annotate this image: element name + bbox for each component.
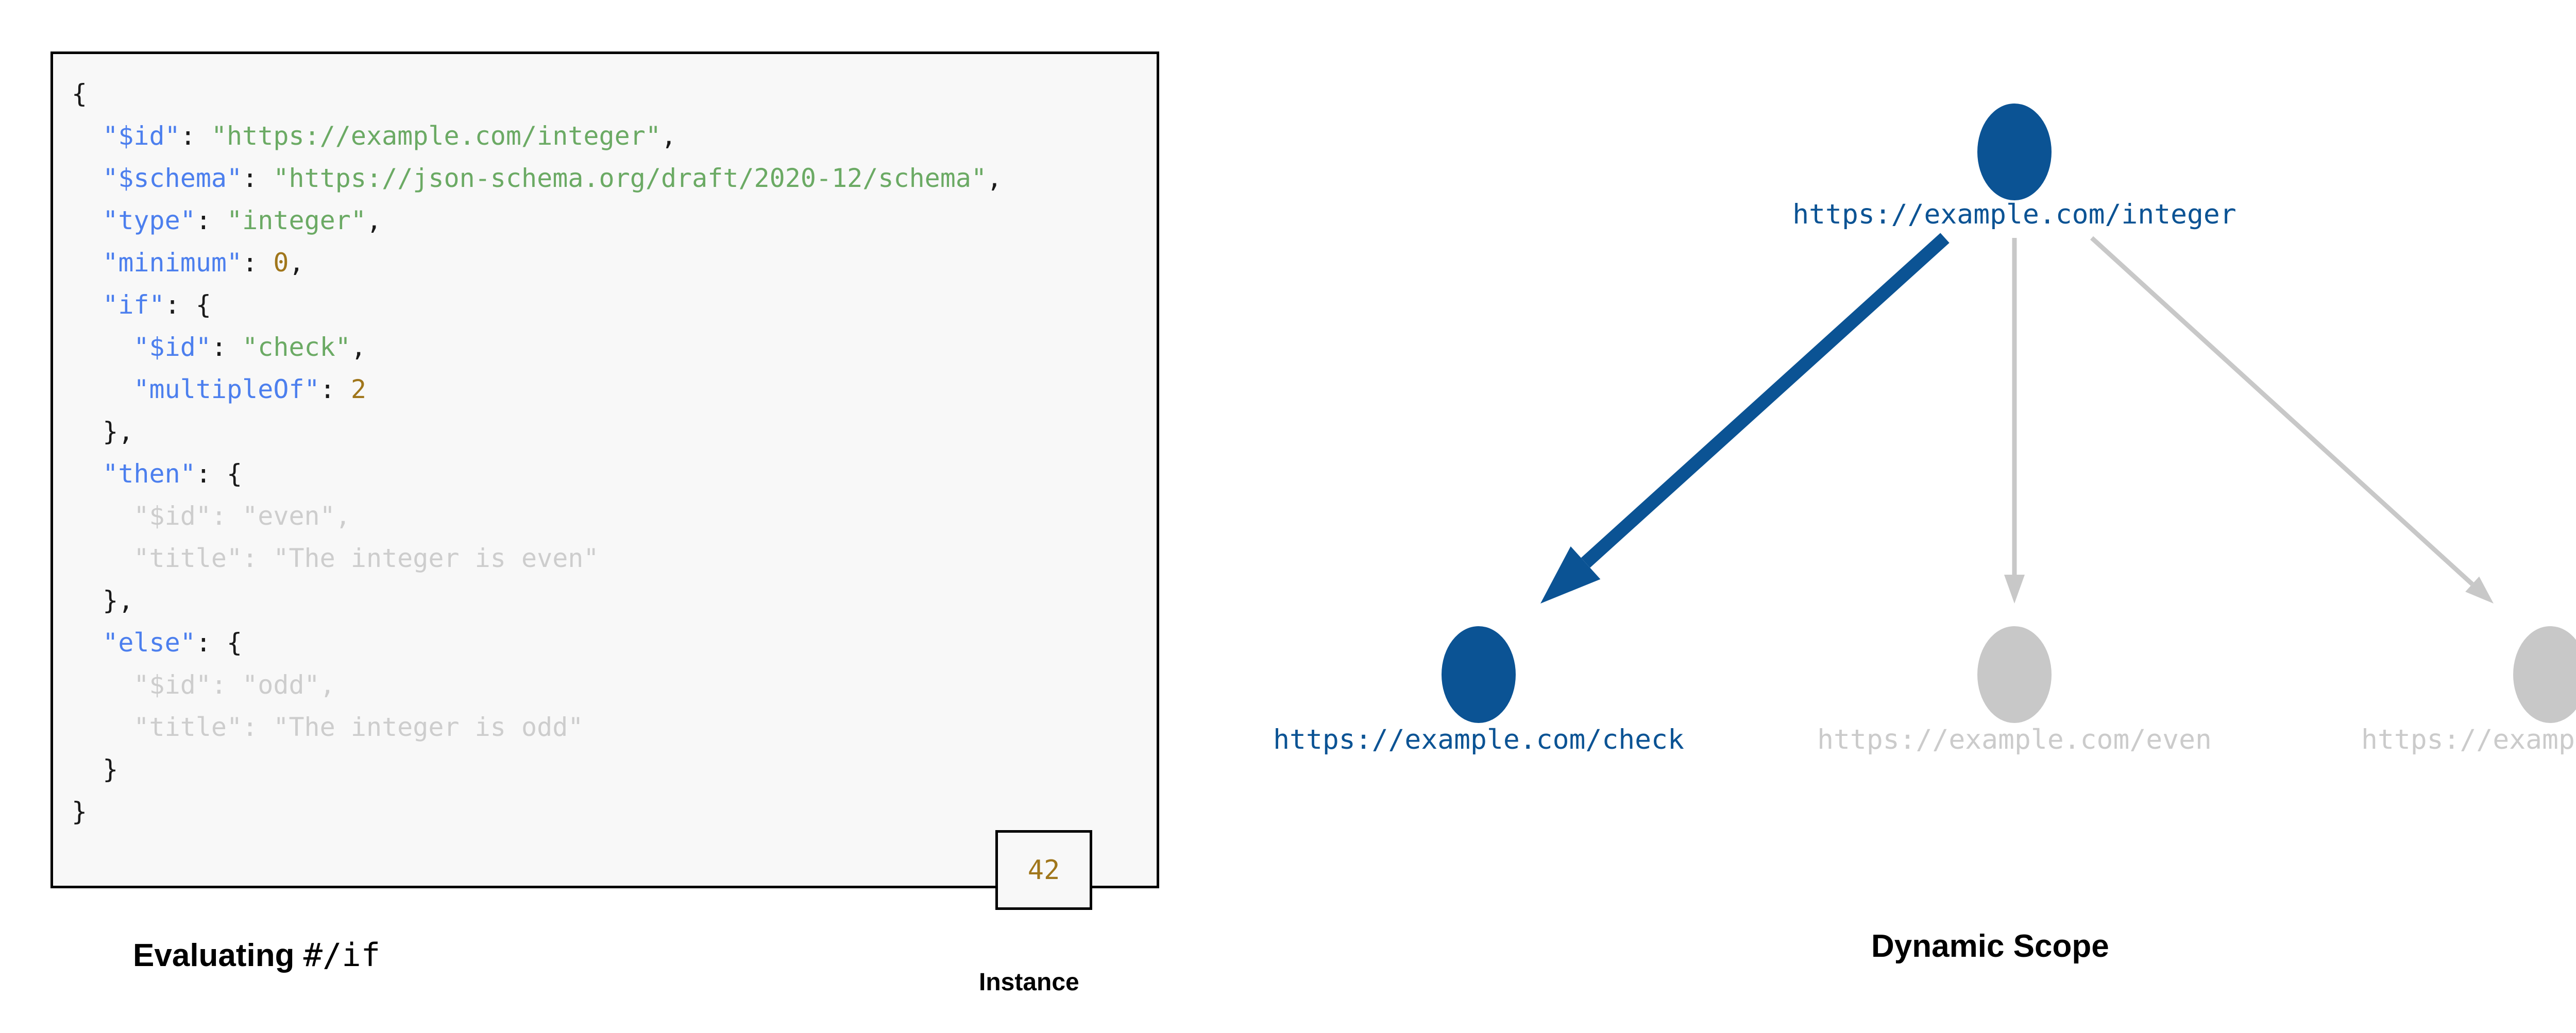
code-indent: [72, 163, 103, 193]
code-token-key: "$id": [133, 332, 211, 362]
code-token-key: "$id": [103, 121, 180, 151]
code-token-str: "https://example.com/integer": [211, 121, 661, 151]
graph-node-odd[interactable]: [2513, 626, 2576, 723]
code-token-key: "then": [103, 459, 196, 489]
evaluating-caption-text: Evaluating: [133, 938, 295, 973]
code-indent: [72, 501, 133, 531]
code-token-punct: : {: [196, 459, 242, 489]
code-token-punct: :: [196, 205, 227, 235]
code-token-punct: :: [320, 374, 351, 404]
code-indent: [72, 121, 103, 151]
code-line: "title": "The integer is even": [72, 537, 1002, 579]
code-indent: [72, 754, 103, 784]
graph-node-check[interactable]: [1442, 626, 1516, 723]
dynamic-scope-graph: https://example.com/integerhttps://examp…: [1185, 0, 2576, 1033]
code-line: "$id": "check",: [72, 326, 1002, 368]
code-indent: [72, 586, 103, 615]
dynamic-scope-caption: Dynamic Scope: [1871, 928, 2109, 965]
edge-line: [2092, 238, 2472, 584]
code-token-punct: : {: [165, 290, 211, 320]
code-token-str: "integer": [227, 205, 366, 235]
code-token-str: "check": [242, 332, 351, 362]
code-indent: [72, 543, 133, 573]
code-line: "multipleOf": 2: [72, 368, 1002, 410]
code-token-punct: ,: [987, 163, 1002, 193]
code-indent: [72, 628, 103, 658]
code-token-str: "https://json-schema.org/draft/2020-12/s…: [273, 163, 987, 193]
graph-node-even[interactable]: [1977, 626, 2052, 723]
code-token-punct: },: [103, 586, 133, 615]
code-indent: [72, 205, 103, 235]
code-line: "$id": "even",: [72, 495, 1002, 537]
code-token-punct: {: [72, 79, 87, 109]
graph-node-label-integer: https://example.com/integer: [1792, 199, 2236, 230]
code-token-muted: "$id": "even",: [133, 501, 350, 531]
code-line: "$id": "https://example.com/integer",: [72, 115, 1002, 157]
code-token-punct: }: [72, 797, 87, 827]
code-token-muted: "title": "The integer is even": [133, 543, 599, 573]
code-token-punct: ,: [289, 248, 304, 278]
code-token-punct: }: [103, 754, 118, 784]
code-indent: [72, 374, 133, 404]
code-token-punct: ,: [661, 121, 676, 151]
code-line: "minimum": 0,: [72, 242, 1002, 284]
code-token-key: "else": [103, 628, 196, 658]
code-token-key: "minimum": [103, 248, 242, 278]
code-token-key: "multipleOf": [133, 374, 319, 404]
code-token-muted: "title": "The integer is odd": [133, 712, 583, 742]
code-token-key: "if": [103, 290, 164, 320]
code-token-num: 2: [351, 374, 366, 404]
graph-edge-integer-to-even: [2004, 238, 2025, 604]
code-line: },: [72, 579, 1002, 622]
edge-line: [1586, 238, 1945, 563]
graph-edge-integer-to-odd: [2092, 238, 2494, 604]
schema-panel: { "$id": "https://example.com/integer", …: [0, 0, 1185, 1033]
graph-node-label-odd: https://example.com/odd: [2361, 724, 2576, 755]
schema-code-listing: { "$id": "https://example.com/integer", …: [72, 73, 1002, 833]
code-line: "$id": "odd",: [72, 664, 1002, 706]
code-indent: [72, 670, 133, 700]
code-line: }: [72, 790, 1002, 833]
code-token-punct: :: [242, 163, 273, 193]
code-indent: [72, 332, 133, 362]
code-indent: [72, 459, 103, 489]
code-token-key: "type": [103, 205, 196, 235]
code-line: }: [72, 748, 1002, 790]
code-line: "if": {: [72, 284, 1002, 326]
edge-arrowhead-icon: [2004, 575, 2025, 604]
evaluating-caption: Evaluating #/if: [133, 936, 380, 974]
code-line: "type": "integer",: [72, 199, 1002, 242]
instance-value: 42: [1028, 857, 1060, 884]
code-indent: [72, 248, 103, 278]
code-line: {: [72, 73, 1002, 115]
dynamic-scope-panel: https://example.com/integerhttps://examp…: [1185, 0, 2576, 1033]
code-token-punct: :: [242, 248, 273, 278]
code-line: "else": {: [72, 622, 1002, 664]
code-line: "$schema": "https://json-schema.org/draf…: [72, 157, 1002, 199]
code-token-key: "$schema": [103, 163, 242, 193]
code-token-num: 0: [273, 248, 289, 278]
evaluating-caption-pointer: #/if: [303, 936, 380, 974]
instance-caption: Instance: [979, 968, 1079, 996]
schema-code-box: { "$id": "https://example.com/integer", …: [50, 51, 1159, 888]
code-token-punct: : {: [196, 628, 242, 658]
code-token-punct: :: [211, 332, 242, 362]
graph-node-label-even: https://example.com/even: [1817, 724, 2212, 755]
code-indent: [72, 417, 103, 446]
code-token-punct: ,: [351, 332, 366, 362]
code-token-punct: },: [103, 417, 133, 446]
code-indent: [72, 712, 133, 742]
code-token-punct: ,: [366, 205, 382, 235]
code-token-muted: "$id": "odd",: [133, 670, 335, 700]
graph-node-integer[interactable]: [1977, 104, 2052, 200]
graph-edge-integer-to-check: [1540, 238, 1945, 604]
code-indent: [72, 290, 103, 320]
code-line: },: [72, 410, 1002, 453]
code-line: "then": {: [72, 453, 1002, 495]
graph-node-label-check: https://example.com/check: [1273, 724, 1684, 755]
code-line: "title": "The integer is odd": [72, 706, 1002, 748]
instance-box: 42: [995, 830, 1092, 910]
code-token-punct: :: [180, 121, 211, 151]
